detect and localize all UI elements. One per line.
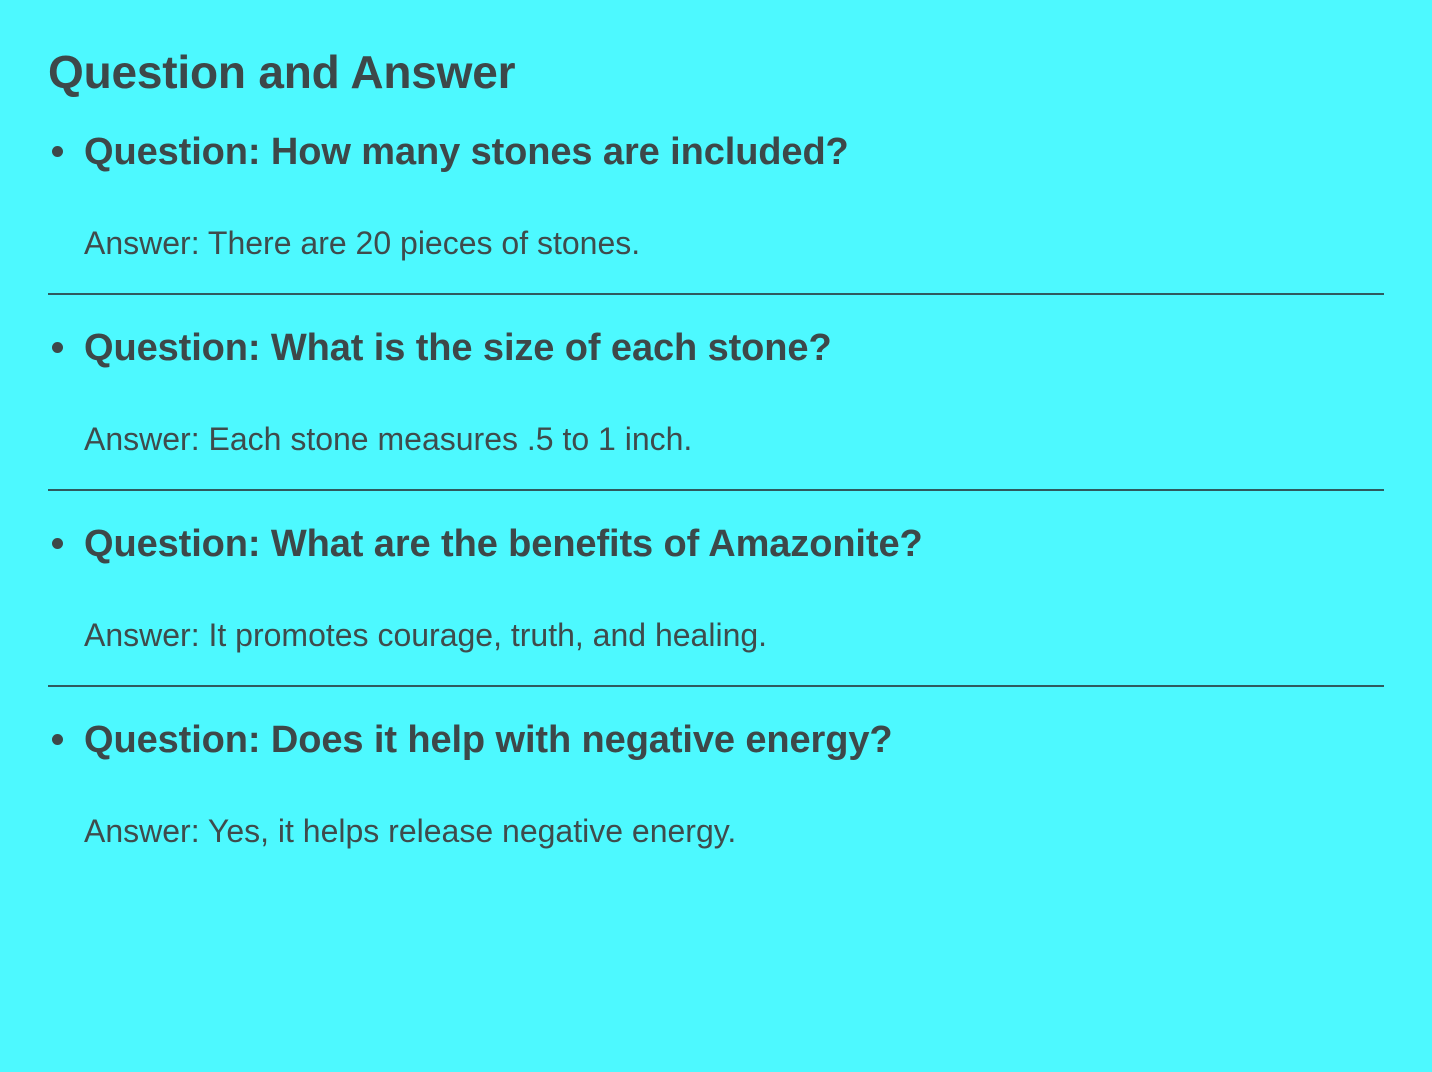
question-text: Question: What is the size of each stone… — [84, 325, 832, 371]
qa-item: Question: What is the size of each stone… — [48, 295, 1384, 491]
bullet-dot-icon — [48, 717, 84, 763]
qa-page: Question and Answer Question: How many s… — [0, 0, 1432, 1072]
qa-item: Question: What are the benefits of Amazo… — [48, 491, 1384, 687]
question-row: Question: What is the size of each stone… — [48, 325, 1384, 371]
page-title: Question and Answer — [48, 0, 1384, 99]
question-text: Question: How many stones are included? — [84, 129, 849, 175]
question-row: Question: How many stones are included? — [48, 129, 1384, 175]
question-text: Question: What are the benefits of Amazo… — [84, 521, 923, 567]
qa-body: Question: What are the benefits of Amazo… — [48, 491, 1384, 685]
qa-body: Question: How many stones are included? … — [48, 99, 1384, 293]
qa-item: Question: How many stones are included? … — [48, 99, 1384, 295]
answer-text: Answer: There are 20 pieces of stones. — [84, 223, 1384, 263]
qa-list: Question: How many stones are included? … — [48, 99, 1384, 881]
answer-text: Answer: Yes, it helps release negative e… — [84, 811, 1384, 851]
question-row: Question: What are the benefits of Amazo… — [48, 521, 1384, 567]
bullet-dot-icon — [48, 129, 84, 175]
qa-item: Question: Does it help with negative ene… — [48, 687, 1384, 881]
qa-body: Question: Does it help with negative ene… — [48, 687, 1384, 881]
qa-body: Question: What is the size of each stone… — [48, 295, 1384, 489]
answer-text: Answer: Each stone measures .5 to 1 inch… — [84, 419, 1384, 459]
bullet-dot-icon — [48, 325, 84, 371]
bullet-dot-icon — [48, 521, 84, 567]
answer-text: Answer: It promotes courage, truth, and … — [84, 615, 1384, 655]
question-row: Question: Does it help with negative ene… — [48, 717, 1384, 763]
question-text: Question: Does it help with negative ene… — [84, 717, 893, 763]
